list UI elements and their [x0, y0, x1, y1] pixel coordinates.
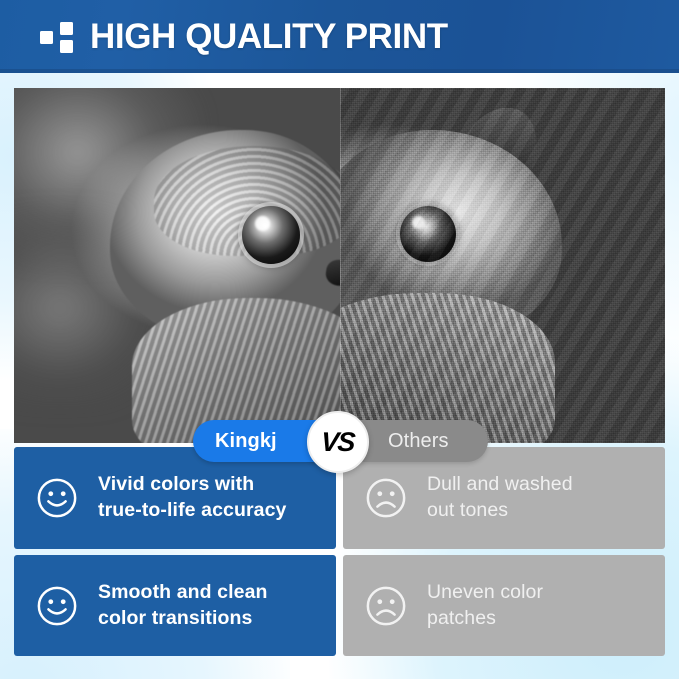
- brand-pill-label: Kingkj: [215, 430, 277, 453]
- photo-half-high-quality: [14, 88, 340, 443]
- feature-card-dull-tones: Dull and washed out tones: [343, 447, 665, 549]
- promo-infographic: HIGH QUALITY PRINT Kingkj: [0, 0, 679, 679]
- photo-half-low-quality: [340, 88, 665, 443]
- page-title: HIGH QUALITY PRINT: [90, 19, 448, 54]
- feature-card-text: Smooth and clean color transitions: [98, 580, 268, 631]
- header-banner: HIGH QUALITY PRINT: [0, 0, 679, 73]
- three-squares-icon: [40, 20, 74, 54]
- feature-card-grid: Vivid colors with true-to-life accuracy …: [14, 447, 665, 656]
- feature-card-text: Vivid colors with true-to-life accuracy: [98, 472, 287, 523]
- feature-card-text: Dull and washed out tones: [427, 472, 573, 523]
- smiley-face-icon: [36, 585, 78, 627]
- smiley-face-icon: [36, 477, 78, 519]
- photo-split-divider: [340, 88, 341, 443]
- vs-badge: VS: [307, 411, 369, 473]
- feature-card-text: Uneven color patches: [427, 580, 543, 631]
- comparison-photo: [14, 88, 665, 443]
- sad-face-icon: [365, 477, 407, 519]
- vs-badge-label: VS: [321, 429, 356, 456]
- feature-card-smooth-transitions: Smooth and clean color transitions: [14, 555, 336, 656]
- others-pill-label: Others: [388, 430, 449, 453]
- sad-face-icon: [365, 585, 407, 627]
- feature-card-uneven-patches: Uneven color patches: [343, 555, 665, 656]
- owl-eye-left: [242, 206, 300, 264]
- feature-card-vivid-colors: Vivid colors with true-to-life accuracy: [14, 447, 336, 549]
